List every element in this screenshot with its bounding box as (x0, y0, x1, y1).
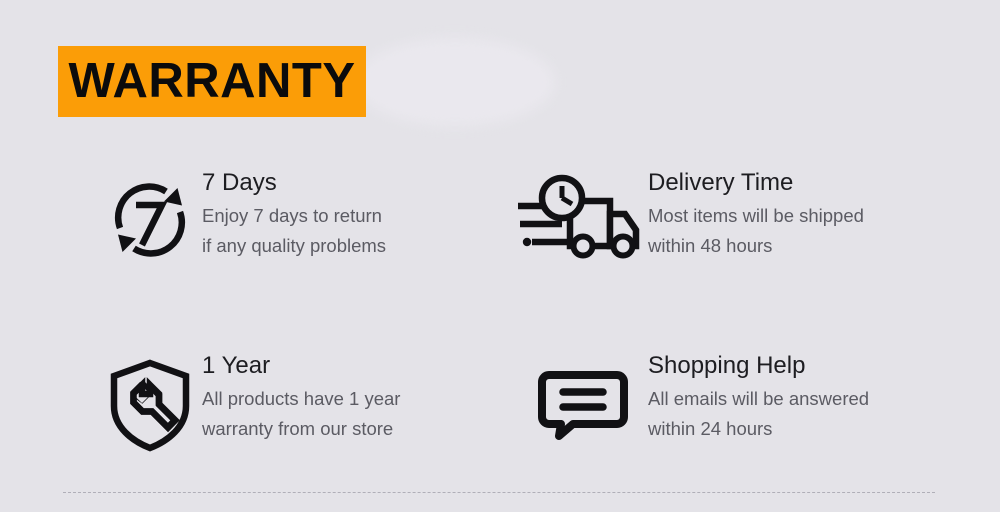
fast-delivery-truck-clock-icon (518, 168, 648, 266)
feature-shopping-help: Shopping Help All emails will be answere… (518, 351, 869, 449)
feature-heading: 1 Year (202, 351, 400, 381)
feature-text-block: 7 Days Enjoy 7 days to return if any qua… (202, 168, 386, 261)
feature-body-line-2: warranty from our store (202, 414, 400, 444)
feature-body-line-1: All products have 1 year (202, 384, 400, 414)
warranty-title-banner: WARRANTY (58, 46, 366, 117)
refresh-seven-days-icon (98, 168, 202, 266)
feature-body-line-2: if any quality problems (202, 231, 386, 261)
bottom-dashed-divider (63, 492, 935, 493)
feature-one-year: 1 Year All products have 1 year warranty… (98, 351, 400, 453)
feature-text-block: Delivery Time Most items will be shipped… (648, 168, 864, 261)
feature-text-block: 1 Year All products have 1 year warranty… (202, 351, 400, 444)
feature-body-line-1: Enjoy 7 days to return (202, 201, 386, 231)
page-title: WARRANTY (68, 57, 355, 106)
feature-heading: Delivery Time (648, 168, 864, 198)
feature-seven-days: 7 Days Enjoy 7 days to return if any qua… (98, 168, 386, 266)
feature-heading: Shopping Help (648, 351, 869, 381)
feature-body-line-2: within 48 hours (648, 231, 864, 261)
feature-body-line-2: within 24 hours (648, 414, 869, 444)
feature-text-block: Shopping Help All emails will be answere… (648, 351, 869, 444)
feature-delivery-time: Delivery Time Most items will be shipped… (518, 168, 864, 266)
feature-body-line-1: All emails will be answered (648, 384, 869, 414)
chat-bubble-icon (518, 351, 648, 449)
background-glow-shape (355, 38, 555, 126)
feature-heading: 7 Days (202, 168, 386, 198)
feature-body-line-1: Most items will be shipped (648, 201, 864, 231)
shield-wrench-icon (98, 351, 202, 453)
